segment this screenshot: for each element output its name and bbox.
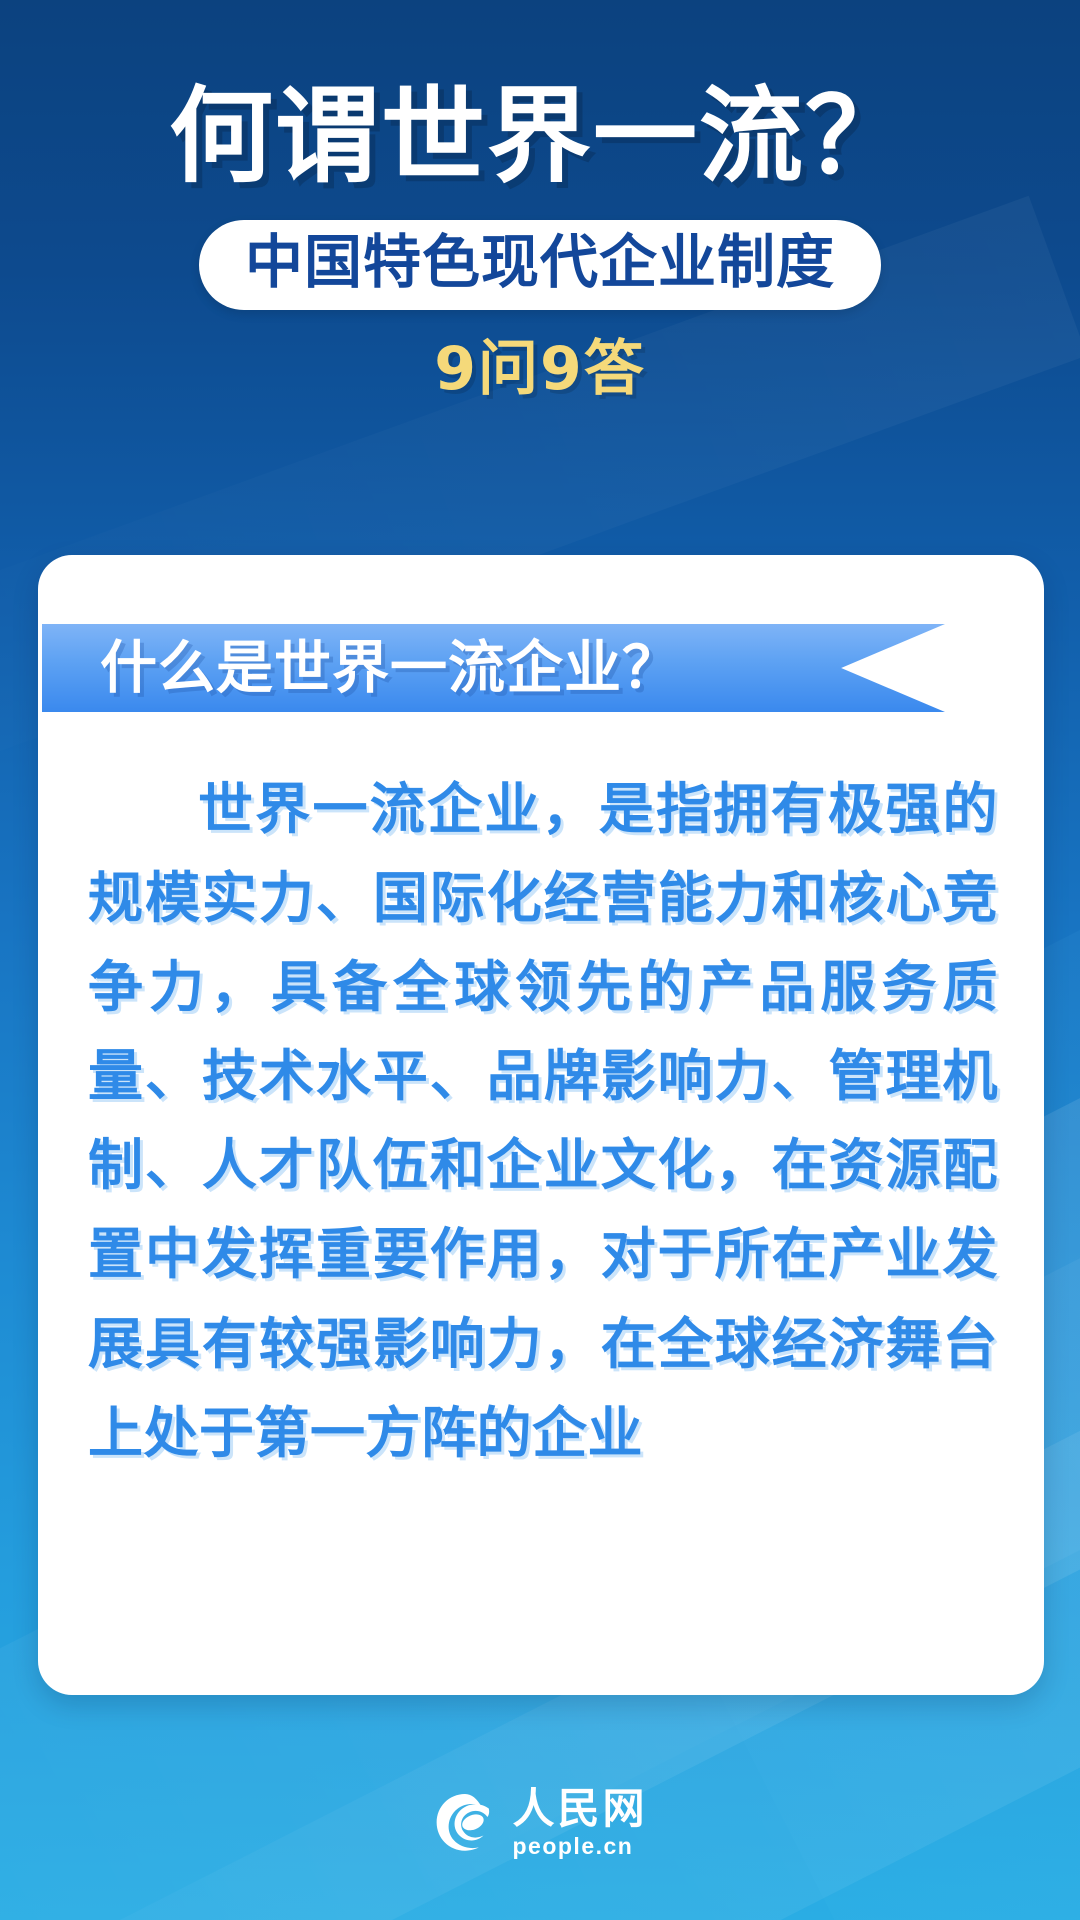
- question-ribbon: 什么是世界一流企业？: [42, 624, 945, 712]
- site-logo: 人民网 people.cn: [0, 1788, 1080, 1858]
- subtitle-pill: 中国特色现代企业制度: [199, 220, 881, 310]
- subtitle-text: 中国特色现代企业制度: [245, 231, 835, 295]
- logo-wordmark: 人民网 people.cn: [512, 1788, 647, 1858]
- question-title: 什么是世界一流企业？: [100, 640, 680, 697]
- content-card: 什么是世界一流企业？ 世界一流企业，是指拥有极强的规模实力、国际化经营能力和核心…: [38, 555, 1044, 1695]
- logo-domain: people.cn: [512, 1835, 633, 1858]
- poster-root: 何谓世界一流？ 中国特色现代企业制度 9问9答 什么是世界一流企业？ 世界一流企…: [0, 0, 1080, 1920]
- answer-body: 世界一流企业，是指拥有极强的规模实力、国际化经营能力和核心竞争力，具备全球领先的…: [88, 765, 998, 1478]
- people-globe-icon: [432, 1790, 498, 1856]
- answer-paragraph: 世界一流企业，是指拥有极强的规模实力、国际化经营能力和核心竞争力，具备全球领先的…: [88, 765, 998, 1478]
- logo-chinese-name: 人民网: [512, 1788, 647, 1830]
- poster-header: 何谓世界一流？ 中国特色现代企业制度 9问9答: [0, 0, 1080, 402]
- page-title: 何谓世界一流？: [0, 78, 1080, 194]
- qa-count-label: 9问9答: [0, 336, 1080, 402]
